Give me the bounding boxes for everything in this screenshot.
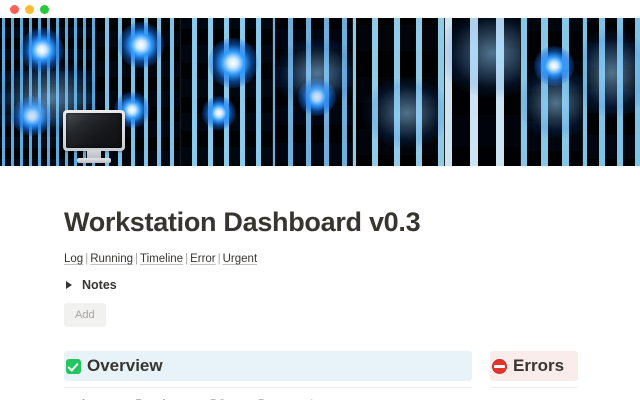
overview-divider xyxy=(64,387,472,388)
triangle-right-icon[interactable] xyxy=(64,280,74,290)
link-running[interactable]: Running xyxy=(90,253,133,265)
errors-title: Errors xyxy=(513,355,564,377)
notes-toggle-label: Notes xyxy=(82,278,117,292)
errors-column: Errors ! Errors xyxy=(490,351,578,400)
close-button[interactable] xyxy=(10,5,19,14)
monitor-body xyxy=(63,110,125,151)
monitor-base xyxy=(77,158,111,163)
link-separator: | xyxy=(216,253,223,265)
overview-title: Overview xyxy=(87,355,163,377)
page-body: Workstation Dashboard v0.3 Log|Running|T… xyxy=(0,166,640,400)
link-timeline[interactable]: Timeline xyxy=(140,253,183,265)
minimize-button[interactable] xyxy=(25,5,34,14)
quick-links: Log|Running|Timeline|Error|Urgent xyxy=(64,251,578,267)
errors-divider xyxy=(490,387,578,388)
link-urgent[interactable]: Urgent xyxy=(223,253,258,265)
zoom-button[interactable] xyxy=(40,5,49,14)
white-check-mark-icon xyxy=(66,359,81,374)
no-entry-icon xyxy=(492,359,507,374)
link-error[interactable]: Error xyxy=(190,253,216,265)
notes-toggle[interactable]: Notes xyxy=(64,278,578,292)
desktop-computer-icon[interactable] xyxy=(63,110,125,166)
overview-heading[interactable]: Overview xyxy=(64,351,472,381)
overview-column: Overview Log xyxy=(64,351,472,400)
monitor-screen xyxy=(66,113,122,148)
window-titlebar xyxy=(0,0,640,18)
errors-heading[interactable]: Errors xyxy=(490,351,578,381)
link-separator: | xyxy=(133,253,140,265)
section-columns: Overview Log xyxy=(64,351,578,400)
link-log[interactable]: Log xyxy=(64,253,83,265)
traffic-lights xyxy=(10,5,49,14)
link-separator: | xyxy=(183,253,190,265)
page-content: Workstation Dashboard v0.3 Log|Running|T… xyxy=(0,166,640,400)
app-window: Workstation Dashboard v0.3 Log|Running|T… xyxy=(0,0,640,400)
add-button[interactable]: Add xyxy=(64,303,106,327)
page-title: Workstation Dashboard v0.3 xyxy=(64,166,578,238)
column-gap xyxy=(472,351,490,400)
